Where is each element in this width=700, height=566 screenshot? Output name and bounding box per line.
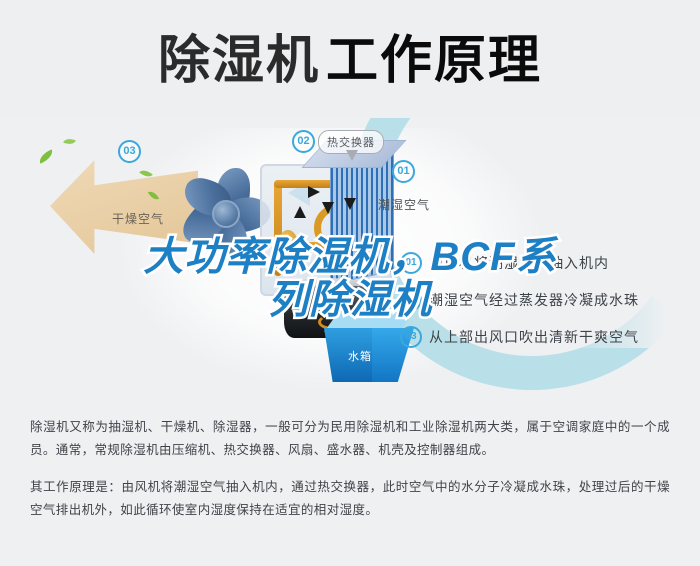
page-title-part-2: 工作原理 [326, 32, 542, 90]
airflow-arrow-icon [322, 202, 334, 214]
compressor-icon [278, 230, 298, 260]
callout-badge-humid-air: 01 [392, 160, 415, 183]
illustration-stage: 干燥空气 [0, 118, 700, 390]
list-item: 02 潮湿空气经过蒸发器冷凝成水珠 [400, 281, 696, 318]
heat-exchanger-callout-tail [346, 150, 358, 161]
airflow-arrow-icon [294, 206, 306, 218]
list-item: 01 由风机将潮湿空气抽入机内 [400, 244, 696, 281]
step-text: 潮湿空气经过蒸发器冷凝成水珠 [429, 290, 639, 310]
step-badge: 02 [400, 289, 422, 311]
leaf-icon [63, 136, 76, 147]
page-title-part-1: 除湿机 [158, 32, 320, 90]
fan-hub [212, 200, 240, 228]
callout-badge-heat-exchanger: 02 [292, 130, 315, 153]
step-text: 从上部出风口吹出清新干爽空气 [429, 327, 639, 347]
description-paragraph-1: 除湿机又称为抽湿机、干燥机、除湿器，一般可分为民用除湿机和工业除湿机两大类，属于… [30, 416, 670, 462]
airflow-arrow-icon [308, 186, 320, 198]
airflow-arrow-icon [344, 198, 356, 210]
header-band: 除湿机工作原理 [0, 0, 700, 120]
step-badge: 03 [400, 326, 422, 348]
page-title: 除湿机工作原理 [0, 26, 700, 96]
dehumidifier-infographic: 除湿机工作原理 干燥空气 [0, 0, 700, 566]
leaf-icon [37, 149, 55, 163]
step-badge: 01 [400, 252, 422, 274]
evaporator-coil [330, 151, 394, 285]
water-tank-label: 水箱 [348, 348, 372, 364]
dry-air-label: 干燥空气 [112, 210, 164, 227]
callout-badge-dry-air: 03 [118, 140, 141, 163]
list-item: 03 从上部出风口吹出清新干爽空气 [400, 318, 696, 355]
step-text: 由风机将潮湿空气抽入机内 [429, 253, 609, 273]
description-paragraph-2: 其工作原理是：由风机将潮湿空气抽入机内，通过热交换器，此时空气中的水分子冷凝成水… [30, 476, 670, 522]
refrigerant-pipe [274, 180, 282, 276]
humid-air-label: 潮湿空气 [378, 196, 430, 213]
description-section: 除湿机又称为抽湿机、干燥机、除湿器，一般可分为民用除湿机和工业除湿机两大类，属于… [0, 398, 700, 566]
step-list: 01 由风机将潮湿空气抽入机内 02 潮湿空气经过蒸发器冷凝成水珠 03 从上部… [400, 244, 696, 355]
